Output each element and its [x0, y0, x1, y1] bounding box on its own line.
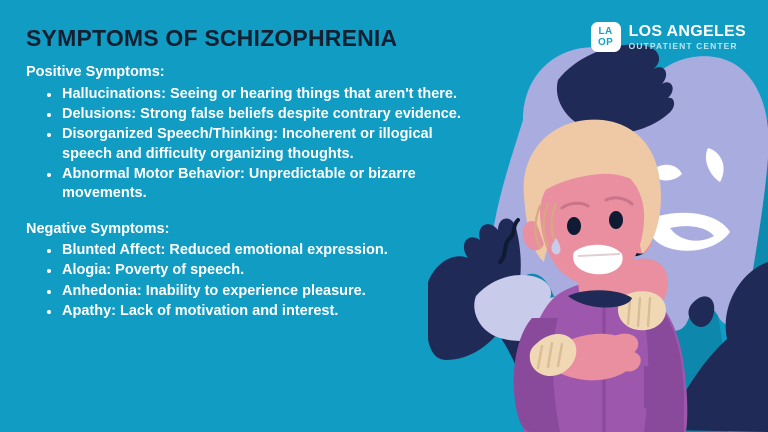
list-item: Abnormal Motor Behavior: Unpredictable o… [42, 165, 478, 204]
logo-name: LOS ANGELES [629, 24, 746, 40]
content-column: SYMPTOMS OF SCHIZOPHRENIA Positive Sympt… [26, 26, 478, 322]
list-item: Disorganized Speech/Thinking: Incoherent… [42, 125, 478, 164]
logo-badge-line1: LA [599, 27, 613, 37]
section-positive-symptoms: Positive Symptoms: Hallucinations: Seein… [26, 63, 478, 203]
list-item: Delusions: Strong false beliefs despite … [42, 105, 478, 124]
section-heading-positive: Positive Symptoms: [26, 63, 478, 83]
section-heading-negative: Negative Symptoms: [26, 220, 478, 240]
logo-subtitle: OUTPATIENT CENTER [629, 42, 746, 51]
logo[interactable]: LA OP LOS ANGELES OUTPATIENT CENTER [591, 22, 746, 52]
list-item: Anhedonia: Inability to experience pleas… [42, 282, 478, 301]
logo-badge-line2: OP [598, 38, 613, 48]
list-item: Hallucinations: Seeing or hearing things… [42, 85, 478, 104]
section-negative-symptoms: Negative Symptoms: Blunted Affect: Reduc… [26, 220, 478, 322]
list-item: Blunted Affect: Reduced emotional expres… [42, 241, 478, 260]
logo-wordmark: LOS ANGELES OUTPATIENT CENTER [629, 24, 746, 51]
symptom-list-positive: Hallucinations: Seeing or hearing things… [26, 85, 478, 204]
symptom-list-negative: Blunted Affect: Reduced emotional expres… [26, 241, 478, 321]
infographic-poster: LA OP LOS ANGELES OUTPATIENT CENTER SYMP… [0, 0, 768, 432]
person-eye-left [567, 217, 581, 235]
illustration-distressed-person-with-ghosts [428, 0, 768, 432]
list-item: Alogia: Poverty of speech. [42, 261, 478, 280]
list-item: Apathy: Lack of motivation and interest. [42, 302, 478, 321]
logo-badge-icon: LA OP [591, 22, 621, 52]
section-spacer [26, 205, 478, 220]
page-title: SYMPTOMS OF SCHIZOPHRENIA [26, 26, 478, 51]
person-eye-right [609, 211, 623, 229]
